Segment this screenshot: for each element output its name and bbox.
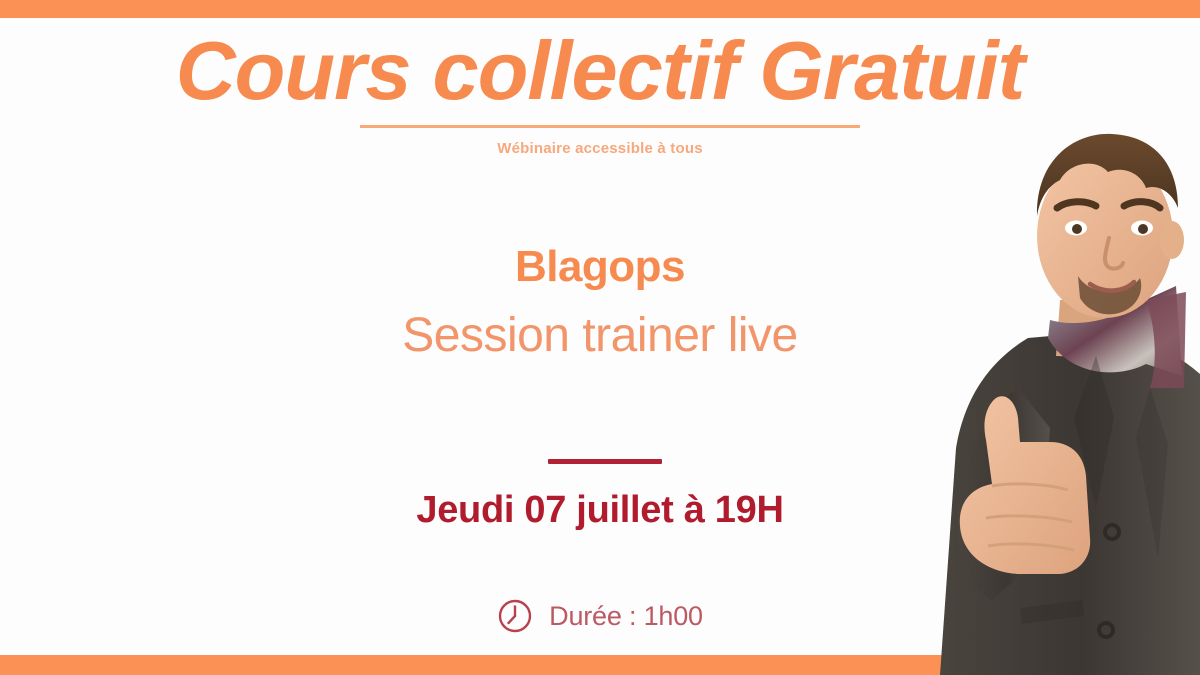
clock-icon (497, 598, 533, 634)
title-divider (360, 125, 860, 128)
duration-label: Durée : 1h00 (549, 601, 703, 632)
top-accent-bar (0, 0, 1200, 18)
webinar-poster: Cours collectif Gratuit Wébinaire access… (0, 0, 1200, 675)
presenter-photo (900, 88, 1200, 675)
date-divider (548, 459, 662, 464)
